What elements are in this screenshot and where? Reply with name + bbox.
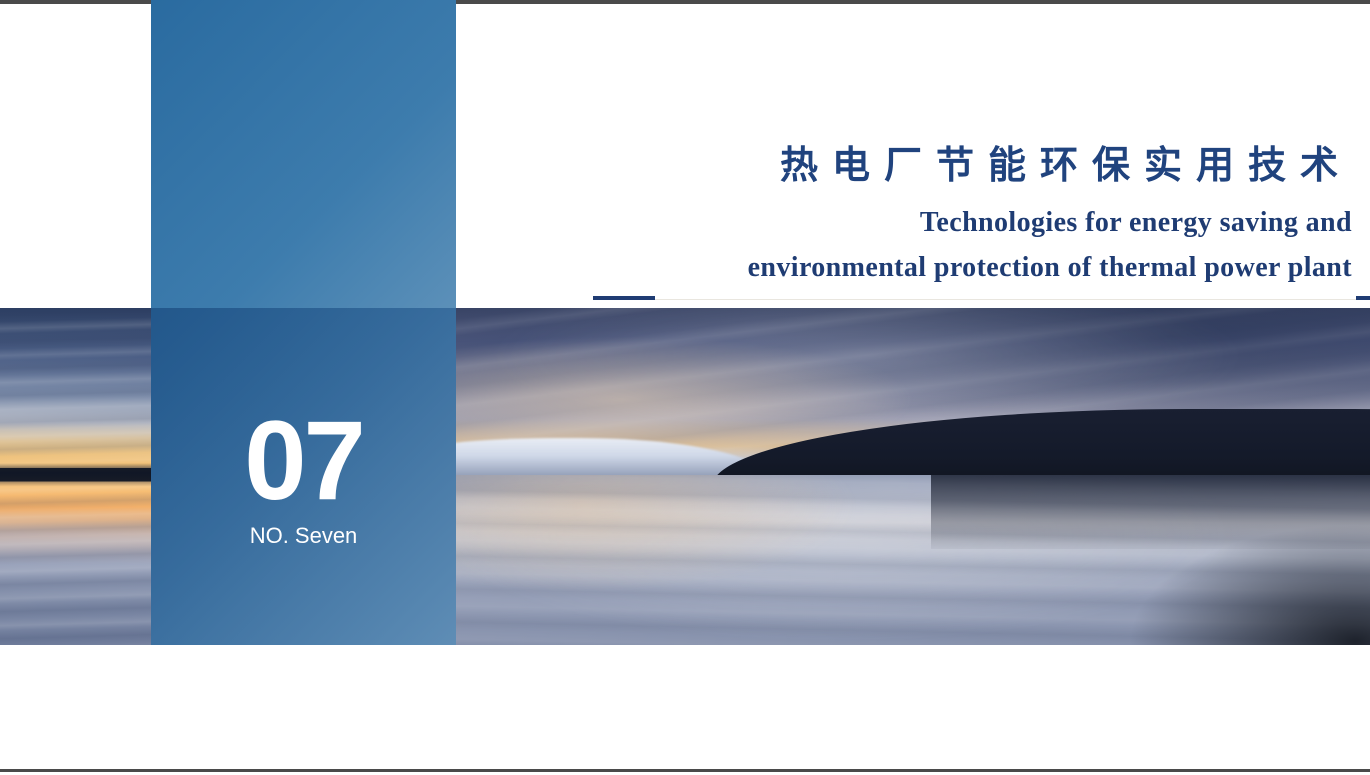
title-chinese: 热电厂节能环保实用技术 [522,145,1352,188]
presentation-slide: 07 NO. Seven 热电厂节能环保实用技术 Technologies fo… [0,0,1370,775]
shoreline-shadow [1114,517,1370,645]
title-hairline-rule [593,299,1370,300]
slide-title-block: 热电厂节能环保实用技术 Technologies for energy savi… [522,145,1352,290]
title-english-line-1: Technologies for energy saving and [522,200,1352,245]
twilight-lake-photo-main [456,308,1370,645]
title-accent-rule-left [593,296,655,300]
blue-panel-photo-overlay [151,308,456,645]
title-accent-rule-right [1356,296,1370,300]
bottom-edge-rule [0,769,1370,772]
title-english-line-2: environmental protection of thermal powe… [522,245,1352,290]
